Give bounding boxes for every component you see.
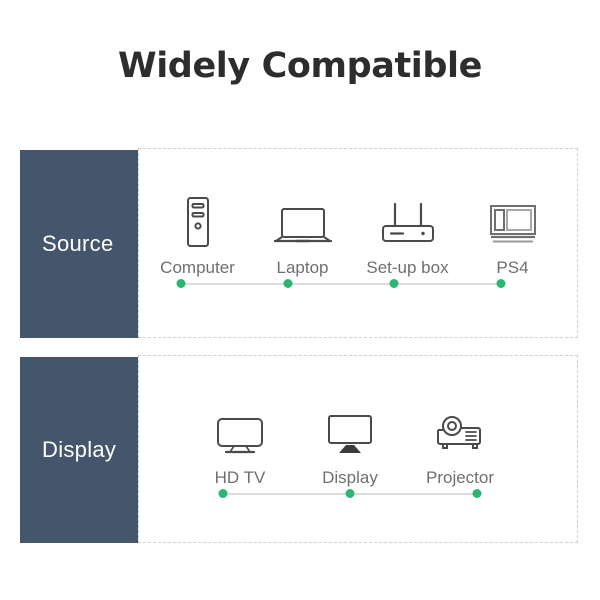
display-item-hdtv[interactable]: HD TV [185,398,295,488]
display-item-projector[interactable]: Projector [405,398,515,488]
display-item-list: HD TV Display Projector [185,398,515,488]
display-item-label: Display [322,468,378,488]
display-connector-line [223,489,477,499]
compatibility-infographic: Widely Compatible Source Computer [0,0,600,600]
display-item-display[interactable]: Display [295,398,405,488]
projector-icon [415,398,505,458]
monitor-icon [305,398,395,458]
connector-dot [473,489,482,498]
display-panel: Display [0,0,600,600]
display-item-label: HD TV [215,468,266,488]
connector-dot [219,489,228,498]
display-item-label: Projector [426,468,494,488]
connector-dot [346,489,355,498]
display-category-label: Display [42,437,116,463]
tv-icon [195,398,285,458]
display-category-block: Display [20,357,138,543]
